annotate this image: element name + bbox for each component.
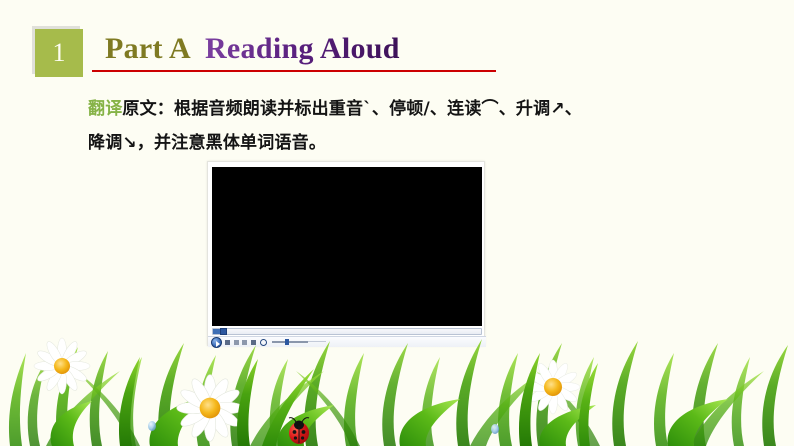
slide-heading: 1 Part AReading Aloud [0,0,794,86]
volume-track-remainder [308,341,326,342]
grass-back-layer [9,339,788,446]
grass-border-decoration [0,331,794,446]
seek-thumb-handle[interactable] [220,328,227,335]
instruction-highlight-label: 翻译 [88,99,122,119]
player-control-bar [208,336,486,347]
grass-cross-layer [46,371,764,446]
dew-drop [148,421,156,431]
section-number-badge: 1 [35,29,83,77]
daisy-center [54,358,70,374]
title-part-label: Part A [105,32,191,65]
dew-drop [491,424,499,434]
volume-thumb-handle[interactable] [285,339,289,345]
next-button-icon[interactable] [242,340,247,345]
instruction-paragraph: 翻译原文：根据音频朗读并标出重音`、停顿/、连读⌒、升调↗、 降调↘，并注意黑体… [88,92,708,160]
daisy-flower [34,338,90,394]
title-underline-rule [92,70,496,72]
stop-button-icon[interactable] [225,340,230,345]
grass-front-layer [119,353,598,446]
grass-illustration [0,331,794,446]
video-surface[interactable] [212,167,482,326]
ladybug-head [294,421,304,430]
volume-slider[interactable] [272,341,308,343]
dew-drops [148,421,499,434]
play-triangle-icon [216,341,220,347]
section-number-text: 1 [35,29,83,77]
media-player[interactable] [207,161,485,346]
previous-button-icon[interactable] [234,340,239,345]
daisy-center [200,398,221,419]
page-title: Part AReading Aloud [105,32,400,66]
daisy-flower [177,375,244,442]
instruction-line-1: 原文：根据音频朗读并标出重音`、停顿/、连读⌒、升调↗、 [122,99,582,119]
speaker-icon[interactable] [260,339,267,346]
daisy-center [544,378,562,396]
mute-button-icon[interactable] [251,340,256,345]
seek-bar[interactable] [212,328,482,335]
ladybug [289,418,309,444]
slide-canvas: 1 Part AReading Aloud 翻译原文：根据音频朗读并标出重音`、… [0,0,794,446]
title-main-label: Reading Aloud [205,32,400,65]
daisy-flower [526,360,580,414]
play-button-icon[interactable] [211,337,222,348]
instruction-line-2: 降调↘，并注意黑体单词语音。 [88,133,326,153]
grass-leaf-layer [51,395,728,446]
